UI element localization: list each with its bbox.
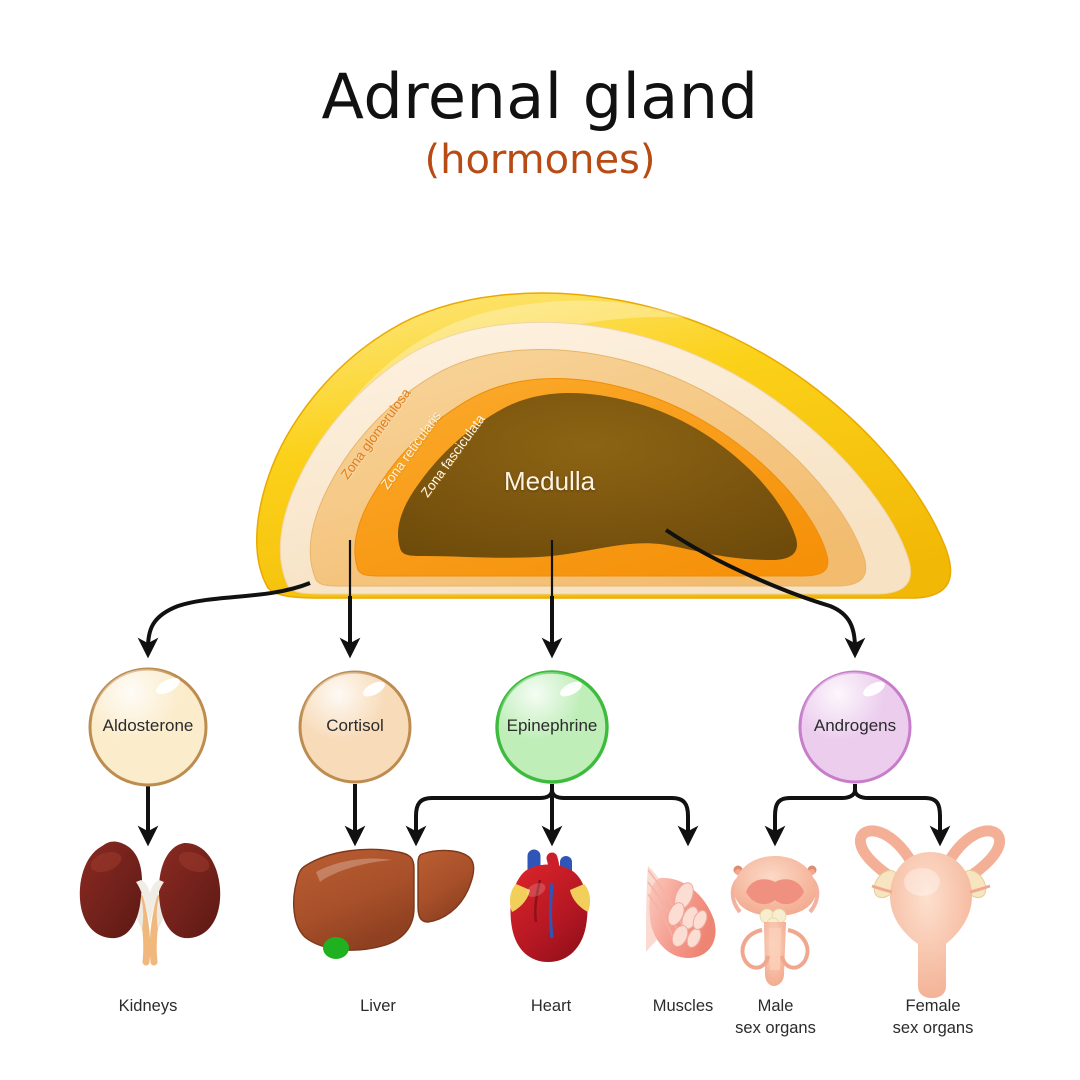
organ-liver-illustration [294,849,474,959]
adrenal-gland-hormones-diagram: Adrenal gland (hormones) [0,0,1080,1080]
organ-caption-female-sex-organs: Female sex organs [868,996,998,1040]
organ-caption-male-sex-organs: Male sex organs [718,996,833,1040]
organ-kidneys-illustration [80,842,220,962]
organ-caption-heart: Heart [496,996,606,1018]
organ-caption-liver: Liver [318,996,438,1018]
organ-female-sex-organs-illustration [860,831,999,998]
organ-caption-kidneys: Kidneys [78,996,218,1018]
organ-male-sex-organs-illustration [733,856,818,986]
organ-heart-illustration [510,856,590,962]
organ-muscle-illustration [646,866,716,958]
organs-layer [0,0,1080,1080]
gallbladder [323,937,349,959]
